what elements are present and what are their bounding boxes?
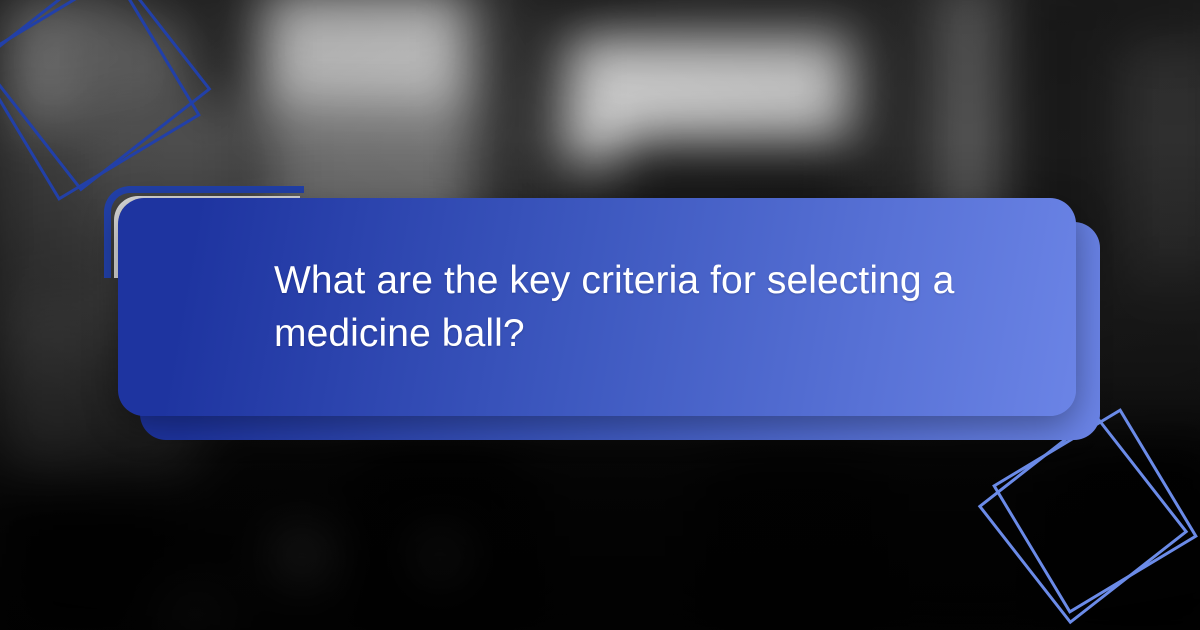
question-card[interactable]: What are the key criteria for selecting … — [118, 198, 1076, 416]
question-text: What are the key criteria for selecting … — [118, 254, 1076, 360]
screenshot-root: What are the key criteria for selecting … — [0, 0, 1200, 630]
